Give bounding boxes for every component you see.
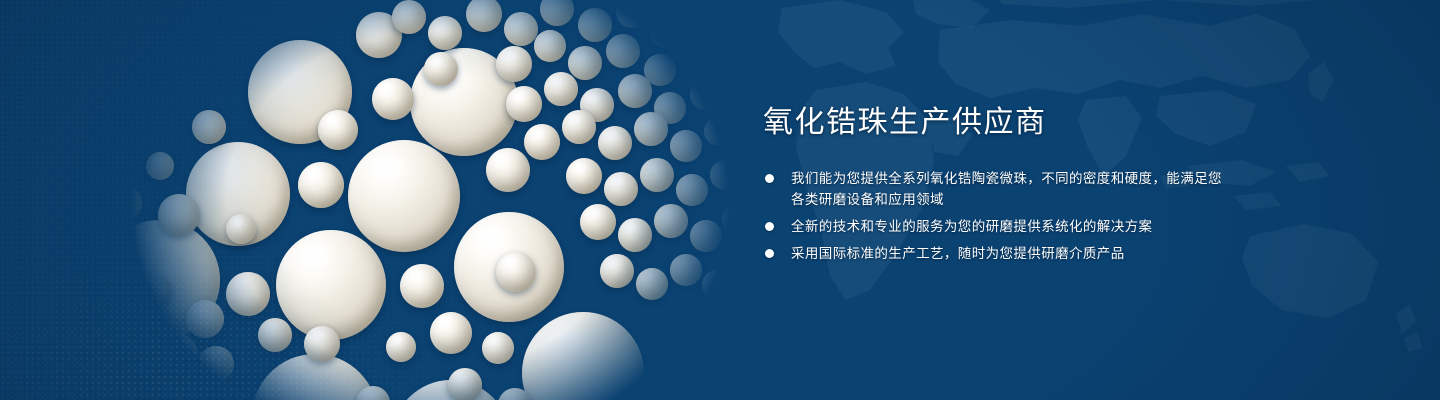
bullet-dot-icon [765, 249, 774, 258]
hero-banner: 氧化锆珠生产供应商 我们能为您提供全系列氧化锆陶瓷微珠，不同的密度和硬度，能满足… [0, 0, 1440, 400]
list-item: 采用国际标准的生产工艺，随时为您提供研磨介质产品 [763, 243, 1233, 264]
list-item-label: 采用国际标准的生产工艺，随时为您提供研磨介质产品 [791, 246, 1125, 261]
bullet-dot-icon [765, 174, 774, 183]
feature-list: 我们能为您提供全系列氧化锆陶瓷微珠，不同的密度和硬度，能满足您各类研磨设备和应用… [763, 168, 1233, 264]
bullet-dot-icon [765, 222, 774, 231]
list-item-label: 全新的技术和专业的服务为您的研磨提供系统化的解决方案 [791, 219, 1152, 234]
banner-copy: 氧化锆珠生产供应商 我们能为您提供全系列氧化锆陶瓷微珠，不同的密度和硬度，能满足… [763, 104, 1233, 270]
page-title: 氧化锆珠生产供应商 [763, 104, 1233, 142]
list-item: 全新的技术和专业的服务为您的研磨提供系统化的解决方案 [763, 216, 1233, 237]
list-item-label: 我们能为您提供全系列氧化锆陶瓷微珠，不同的密度和硬度，能满足您各类研磨设备和应用… [791, 171, 1222, 207]
list-item: 我们能为您提供全系列氧化锆陶瓷微珠，不同的密度和硬度，能满足您各类研磨设备和应用… [763, 168, 1233, 210]
